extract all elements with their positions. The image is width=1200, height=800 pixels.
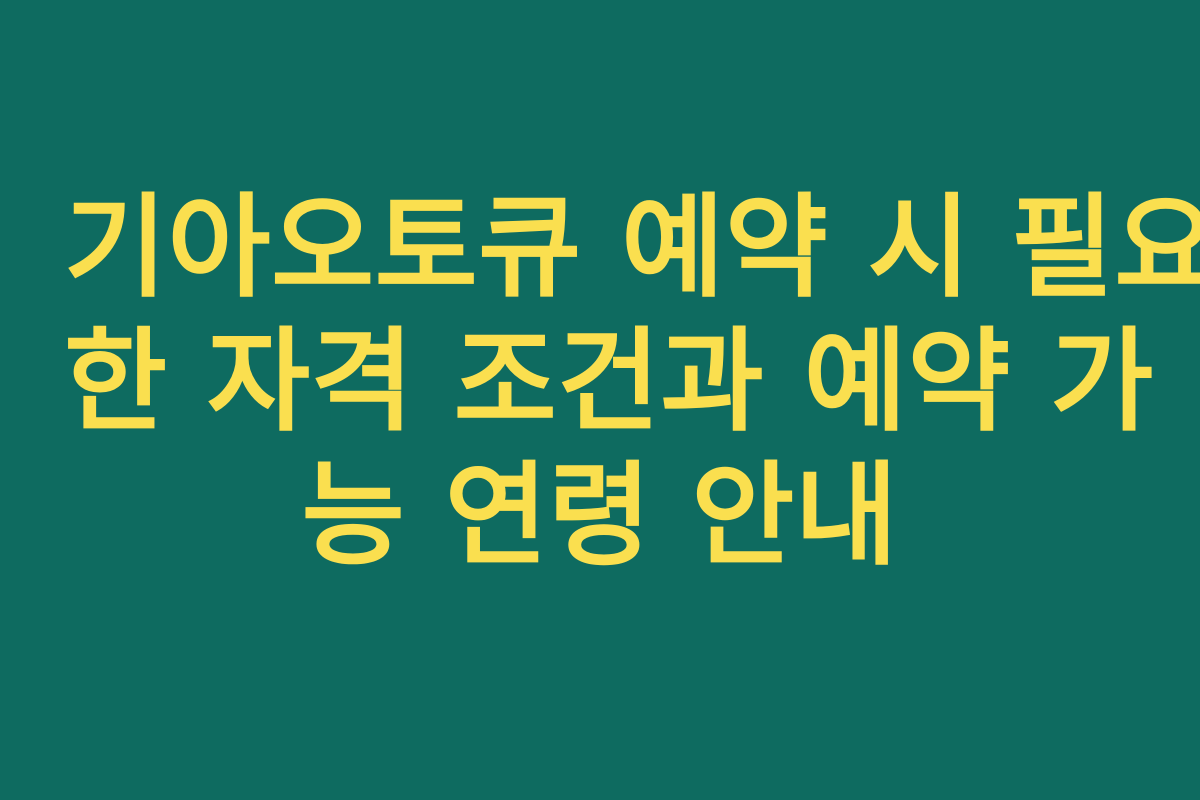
page-title: 기아오토큐 예약 시 필요 한 자격 조건과 예약 가 능 연령 안내 [64, 181, 1136, 583]
thumbnail-banner: 기아오토큐 예약 시 필요 한 자격 조건과 예약 가 능 연령 안내 [0, 0, 1200, 800]
headline-line-1: 기아오토큐 예약 시 필요 [64, 181, 1136, 315]
headline-line-2: 한 자격 조건과 예약 가 [64, 315, 1136, 449]
headline-line-3: 능 연령 안내 [64, 449, 1136, 583]
headline-block: 기아오토큐 예약 시 필요 한 자격 조건과 예약 가 능 연령 안내 [0, 181, 1200, 583]
